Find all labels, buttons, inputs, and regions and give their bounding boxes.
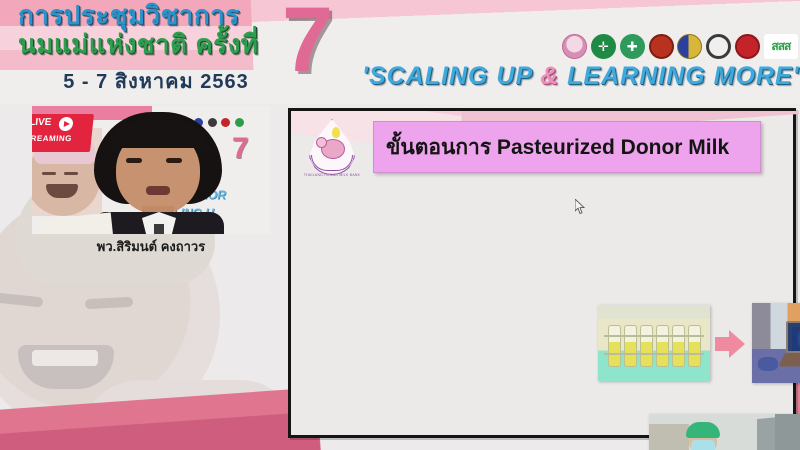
tagline-suffix: LEARNING MORE' [559, 62, 799, 90]
speaker-video-feed[interactable]: การประชุมวิชาการ นมแม่แห่งชาติ ครั้งที่ … [32, 106, 270, 234]
conference-tagline: 'SCALING UP & LEARNING MORE' [362, 62, 800, 91]
mouse-pointer [575, 199, 586, 215]
conference-date: 5 - 7 สิงหาคม 2563 [18, 65, 298, 97]
sponsor-logo-row: ✛ ✚ สสส [562, 26, 798, 66]
laptop-data-entry-photo [752, 303, 800, 383]
tagline-ampersand: & [540, 62, 559, 90]
thaihealth-logo: สสส [764, 34, 798, 59]
streaming-badge-text: STREAMING [32, 134, 72, 143]
speaker-fringe [112, 122, 204, 148]
ministry-green-logo: ✛ [591, 34, 616, 59]
conference-title-block: การประชุมวิชาการ นมแม่แห่งชาติ ครั้งที่ … [18, 2, 298, 97]
speaker-eye-left [126, 158, 142, 163]
human-milk-bank-logo: THAILAND HUMAN MILK BANK [301, 117, 363, 185]
live-streaming-badge: LIVE STREAMING [32, 114, 94, 152]
speaker-name-label: พว.สิริมนต์ คงถาวร [32, 236, 270, 257]
red-seal-logo [735, 34, 760, 59]
logo-caption: THAILAND HUMAN MILK BANK [301, 173, 363, 177]
edition-number: 7 [282, 0, 333, 86]
slide-capture: การประชุมวิชาการ นมแม่แห่งชาติ ครั้งที่ … [0, 0, 800, 450]
speaker-mouth [146, 186, 170, 195]
tagline-prefix: 'SCALING UP [362, 62, 540, 90]
milk-bottles-rack-photo [598, 305, 710, 381]
arrow-right-icon [715, 330, 747, 358]
speaker-figure [94, 112, 222, 234]
baby-teeth-shape [32, 350, 98, 366]
poster-edition-number: 7 [232, 134, 249, 164]
garuda-circle-logo [706, 34, 731, 59]
slide-heading-text: ขั้นตอนการ Pasteurized Donor Milk [374, 131, 729, 164]
red-emblem-logo [649, 34, 674, 59]
logo-baby-head-icon [316, 137, 327, 148]
nurse-laminar-hood-photo [649, 414, 800, 450]
presentation-slide-panel[interactable]: THAILAND HUMAN MILK BANK ขั้นตอนการ Past… [288, 108, 796, 438]
speaker-tie [154, 224, 164, 234]
play-icon [58, 117, 73, 131]
royal-crest-logo [677, 34, 702, 59]
conference-title-line2: นมแม่แห่งชาติ ครั้งที่ [18, 31, 298, 58]
speaker-eye-right [166, 158, 182, 163]
conference-title-line1: การประชุมวิชาการ [18, 2, 298, 29]
live-badge-text: LIVE [32, 117, 52, 128]
royal-patronage-logo [562, 34, 587, 59]
health-department-logo: ✚ [620, 34, 645, 59]
slide-heading-banner: ขั้นตอนการ Pasteurized Donor Milk [373, 121, 761, 173]
milk-droplet-icon [332, 127, 340, 138]
